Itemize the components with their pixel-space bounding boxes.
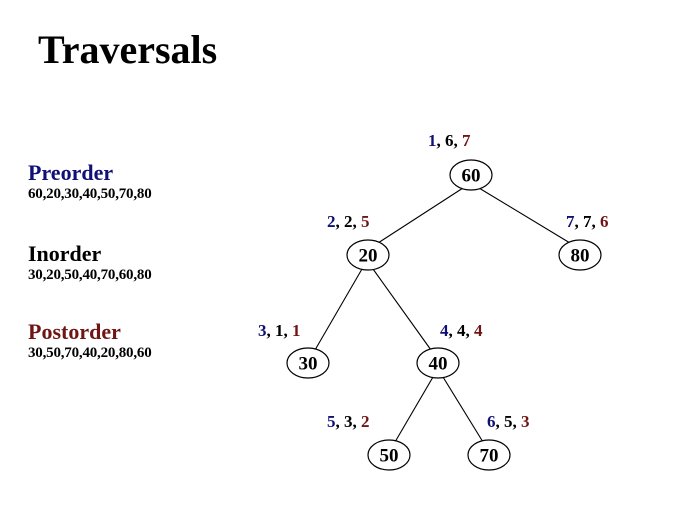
inorder-index: 5	[504, 412, 513, 431]
order-separator: ,	[513, 412, 522, 431]
preorder-index: 1	[428, 131, 437, 150]
postorder-index: 7	[462, 131, 471, 150]
tree-edge-n20-n30	[315, 269, 362, 350]
tree-edge-n20-n40	[373, 269, 431, 350]
postorder-index: 1	[292, 321, 301, 340]
order-separator: ,	[466, 321, 475, 340]
preorder-index: 5	[327, 412, 336, 431]
order-label-n70: 6, 5, 3	[487, 412, 530, 431]
tree-edge-n60-n20	[378, 188, 463, 243]
postorder-index: 3	[521, 412, 530, 431]
postorder-index: 2	[361, 412, 370, 431]
inorder-index: 1	[275, 321, 284, 340]
tree-node-70[interactable]: 70	[468, 440, 510, 470]
tree-edge-n40-n50	[395, 377, 433, 442]
order-separator: ,	[496, 412, 505, 431]
order-label-n80: 7, 7, 6	[566, 212, 609, 231]
node-value-70: 70	[480, 446, 499, 467]
order-separator: ,	[437, 131, 446, 150]
postorder-index: 6	[600, 212, 609, 231]
node-value-50: 50	[380, 446, 399, 467]
order-label-n60: 1, 6, 7	[428, 131, 471, 150]
inorder-index: 4	[457, 321, 466, 340]
order-separator: ,	[336, 412, 345, 431]
tree-node-60[interactable]: 60	[450, 160, 492, 190]
preorder-index: 3	[258, 321, 267, 340]
order-label-n40: 4, 4, 4	[440, 321, 483, 340]
binary-tree-diagram: 60208030405070	[0, 0, 680, 510]
node-value-20: 20	[359, 246, 378, 267]
order-separator: ,	[267, 321, 276, 340]
tree-node-20[interactable]: 20	[347, 240, 389, 270]
node-value-60: 60	[462, 166, 481, 187]
node-value-40: 40	[429, 354, 448, 375]
order-separator: ,	[454, 131, 463, 150]
order-separator: ,	[284, 321, 293, 340]
postorder-index: 4	[474, 321, 483, 340]
inorder-index: 7	[583, 212, 592, 231]
order-separator: ,	[449, 321, 458, 340]
preorder-index: 6	[487, 412, 496, 431]
preorder-index: 2	[327, 212, 336, 231]
tree-edge-n40-n70	[443, 377, 483, 442]
order-label-n50: 5, 3, 2	[327, 412, 370, 431]
order-label-n20: 2, 2, 5	[327, 212, 370, 231]
tree-node-40[interactable]: 40	[417, 348, 459, 378]
order-separator: ,	[336, 212, 345, 231]
order-separator: ,	[575, 212, 584, 231]
node-value-30: 30	[299, 354, 318, 375]
order-label-n30: 3, 1, 1	[258, 321, 301, 340]
inorder-index: 2	[344, 212, 353, 231]
tree-node-30[interactable]: 30	[287, 348, 329, 378]
tree-node-80[interactable]: 80	[559, 240, 601, 270]
preorder-index: 4	[440, 321, 449, 340]
inorder-index: 6	[445, 131, 454, 150]
tree-node-50[interactable]: 50	[368, 440, 410, 470]
postorder-index: 5	[361, 212, 370, 231]
preorder-index: 7	[566, 212, 575, 231]
inorder-index: 3	[344, 412, 353, 431]
tree-edge-n60-n80	[479, 188, 570, 243]
slide-canvas: Traversals Preorder 60,20,30,40,50,70,80…	[0, 0, 680, 510]
order-separator: ,	[353, 412, 362, 431]
order-separator: ,	[592, 212, 601, 231]
node-value-80: 80	[571, 246, 590, 267]
order-separator: ,	[353, 212, 362, 231]
